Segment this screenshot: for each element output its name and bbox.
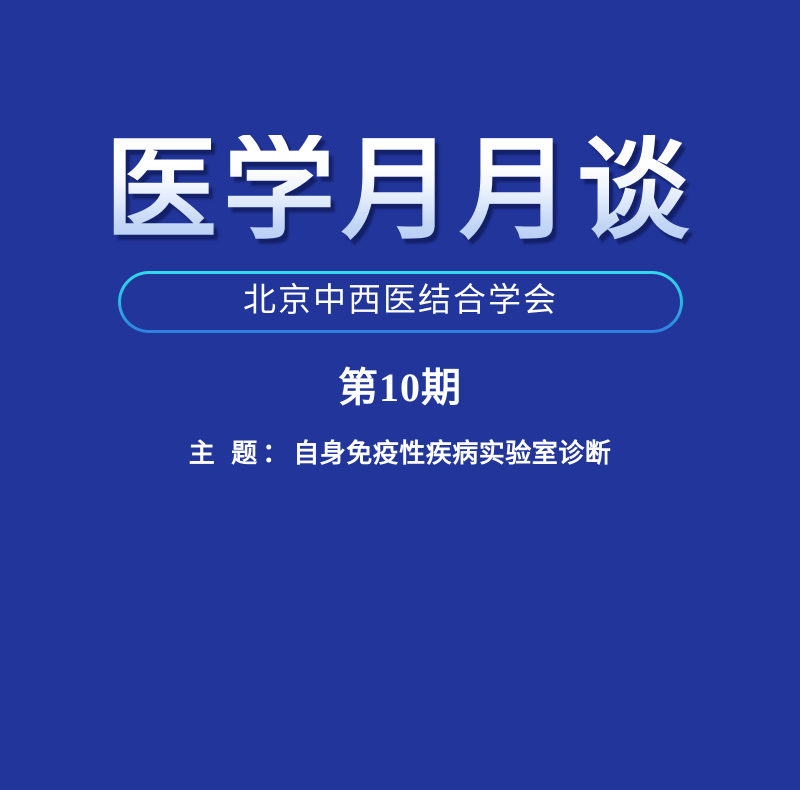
- page-title: 医学月月谈: [101, 135, 699, 247]
- organization-name: 北京中西医结合学会: [243, 285, 558, 318]
- organization-badge: 北京中西医结合学会: [118, 271, 683, 333]
- theme-line: 主 题：自身免疫性疾病实验室诊断: [0, 438, 800, 469]
- theme-value: 自身免疫性疾病实验室诊断: [293, 439, 611, 468]
- theme-label: 主 题：: [189, 439, 294, 468]
- title-block: 医学月月谈: [0, 128, 800, 254]
- poster-canvas: 医学月月谈 北京中西医结合学会 第10期 主 题：自身免疫性疾病实验室诊断: [0, 0, 800, 790]
- issue-number: 第10期: [0, 366, 800, 411]
